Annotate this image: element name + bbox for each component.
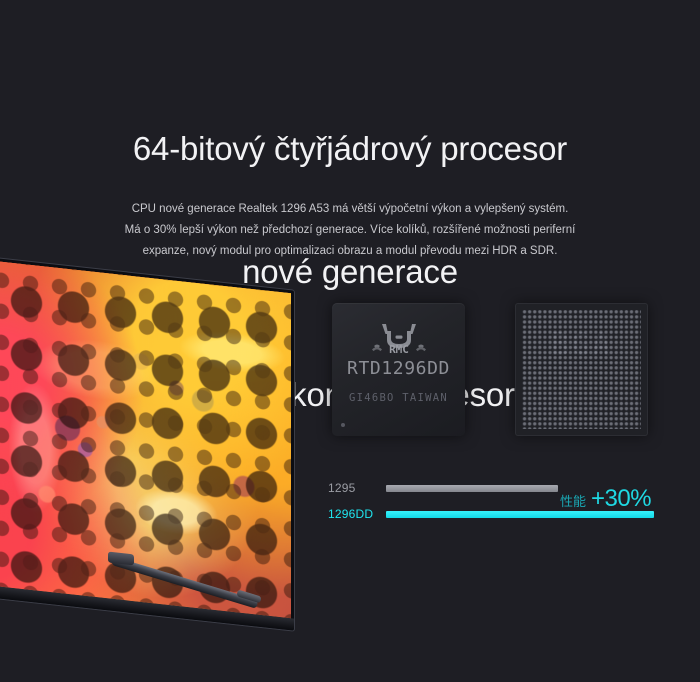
bga-surface-marking: BGA	[522, 310, 641, 429]
promo-page: 64-bitový čtyřjádrový procesor nové gene…	[0, 0, 700, 682]
chip-part-number: RTD1296DD	[332, 358, 465, 379]
performance-gain-label: 性能	[560, 491, 586, 510]
headline-line-1: 64-bitový čtyřjádrový procesor	[0, 128, 700, 169]
performance-comparison-chart: 1295 1296DD 性能 +30%	[328, 481, 658, 527]
performance-label-1295: 1295	[328, 481, 386, 495]
realtek-logo-text: RMC	[389, 343, 409, 356]
performance-gain: 性能 +30%	[560, 487, 651, 511]
paragraph-line-2: Má o 30% lepší výkon než předchozí gener…	[110, 220, 590, 241]
performance-label-1296dd: 1296DD	[328, 507, 386, 521]
chip-lot-code: GI46BO TAIWAN	[332, 392, 465, 404]
performance-bar-1295	[386, 485, 558, 492]
description-paragraph: CPU nové generace Realtek 1296 A53 má vě…	[110, 199, 590, 262]
realtek-logo-icon: RMC	[332, 322, 465, 356]
performance-gain-value: +30%	[591, 487, 651, 511]
chip-pin1-marker	[341, 423, 345, 427]
processor-chip-bga: BGA	[515, 303, 648, 436]
television-image	[0, 258, 294, 610]
processor-chip-top: RMC RTD1296DD GI46BO TAIWAN	[332, 303, 465, 436]
paragraph-line-1: CPU nové generace Realtek 1296 A53 má vě…	[110, 199, 590, 220]
